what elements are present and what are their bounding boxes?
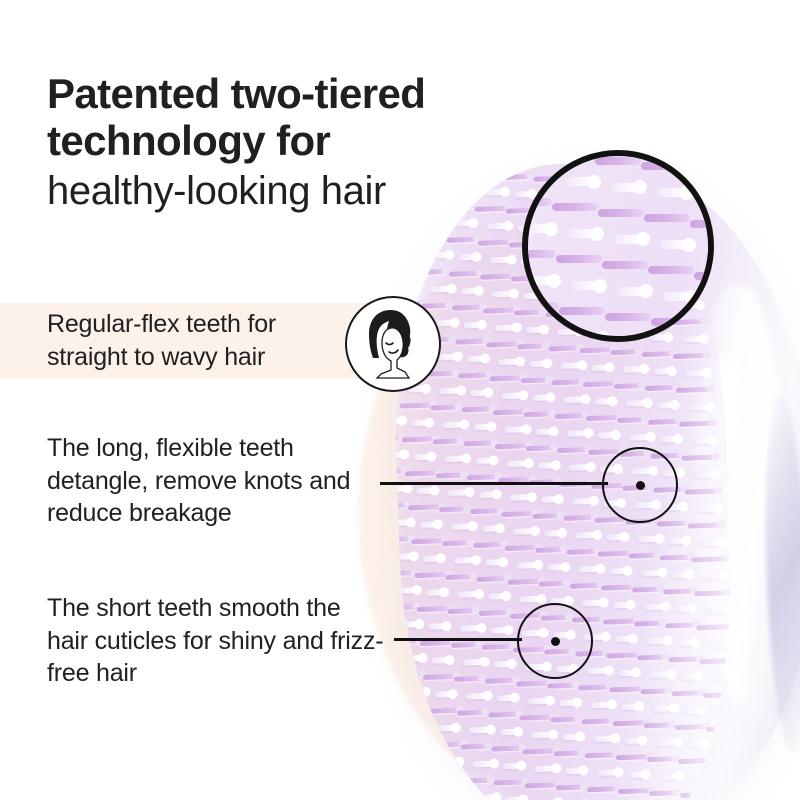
short-tooth	[460, 625, 484, 632]
long-tooth	[595, 157, 641, 165]
long-tooth	[602, 261, 648, 269]
short-tooth	[578, 565, 602, 572]
long-tooth	[584, 752, 617, 758]
short-tooth	[386, 789, 401, 796]
short-tooth	[614, 235, 646, 244]
product-infographic: Patented two-tiered technology for healt…	[0, 0, 800, 800]
long-tooth	[644, 722, 674, 728]
long-tooth	[430, 405, 460, 411]
long-tooth	[638, 654, 668, 660]
long-tooth	[581, 718, 614, 724]
headline-line-3: healthy-looking hair	[47, 168, 567, 215]
short-tooth	[663, 292, 695, 301]
short-tooth	[386, 248, 388, 255]
short-tooth	[597, 432, 617, 439]
bristle-row	[386, 453, 739, 471]
long-tooth	[457, 710, 487, 716]
short-tooth	[386, 687, 392, 694]
short-tooth	[565, 177, 597, 186]
long-tooth	[386, 604, 419, 610]
short-tooth	[594, 398, 614, 405]
short-tooth	[403, 689, 427, 696]
short-tooth	[448, 489, 472, 496]
callout-long-teeth: The long, flexible teeth detangle, remov…	[47, 432, 377, 530]
long-tooth	[569, 582, 602, 588]
short-tooth	[700, 150, 714, 151]
callout-short-teeth: The short teeth smooth the hair cuticles…	[47, 592, 387, 690]
short-tooth	[399, 284, 419, 291]
short-tooth	[606, 534, 626, 541]
long-tooth	[460, 744, 490, 750]
long-tooth	[614, 383, 644, 389]
short-tooth	[400, 655, 424, 662]
short-tooth	[425, 589, 445, 596]
short-tooth	[445, 456, 469, 463]
short-tooth	[618, 669, 638, 676]
long-tooth	[578, 684, 611, 690]
short-tooth	[572, 498, 596, 505]
long-tooth	[552, 379, 585, 385]
short-tooth	[466, 693, 490, 700]
long-tooth	[398, 740, 431, 746]
short-tooth	[469, 727, 493, 734]
short-tooth	[627, 771, 647, 778]
short-tooth	[427, 252, 451, 259]
short-tooth	[571, 281, 603, 290]
long-tooth	[690, 220, 714, 228]
target-dot	[636, 481, 645, 490]
short-tooth	[442, 422, 466, 429]
short-tooth	[463, 659, 487, 666]
long-tooth	[454, 676, 484, 682]
long-tooth	[605, 313, 651, 321]
short-tooth	[437, 725, 457, 732]
short-tooth	[412, 791, 436, 798]
long-tooth	[395, 706, 428, 712]
short-tooth	[457, 591, 481, 598]
long-tooth	[448, 608, 478, 614]
long-tooth	[418, 269, 448, 275]
long-tooth	[559, 307, 605, 315]
short-tooth	[590, 701, 614, 708]
short-tooth	[566, 430, 590, 437]
short-tooth	[454, 557, 478, 564]
short-tooth	[420, 522, 440, 529]
long-tooth	[392, 672, 425, 678]
short-tooth	[431, 657, 451, 664]
short-tooth	[611, 183, 643, 192]
target-circle-short-teeth	[517, 603, 593, 679]
short-tooth	[443, 793, 463, 800]
short-tooth	[439, 388, 463, 395]
long-tooth	[386, 469, 407, 475]
short-tooth	[657, 188, 689, 197]
long-tooth	[436, 473, 466, 479]
long-tooth	[587, 786, 620, 792]
short-tooth	[472, 761, 496, 768]
bristle-row	[386, 758, 739, 776]
long-tooth	[632, 587, 662, 593]
short-tooth	[386, 755, 398, 762]
long-tooth	[563, 515, 596, 521]
short-tooth	[560, 362, 584, 369]
callout-regular-flex: Regular-flex teeth for straight to wavy …	[47, 308, 337, 373]
short-tooth	[474, 795, 498, 800]
short-tooth	[451, 523, 475, 530]
short-tooth	[430, 286, 454, 293]
headline-line-1: Patented two-tiered	[47, 70, 567, 117]
short-tooth	[596, 769, 620, 776]
woman-wavy-hair-icon	[345, 296, 441, 392]
short-tooth	[609, 568, 629, 575]
long-tooth	[651, 318, 697, 326]
long-tooth	[549, 345, 582, 351]
short-tooth	[386, 452, 406, 459]
short-tooth	[624, 737, 644, 744]
short-tooth	[386, 418, 403, 425]
short-tooth	[612, 601, 632, 608]
long-tooth	[556, 255, 602, 263]
short-tooth	[528, 328, 560, 337]
magnified-bristle-detail	[522, 150, 714, 342]
long-tooth	[648, 266, 694, 274]
long-tooth	[386, 704, 394, 710]
long-tooth	[617, 417, 647, 423]
long-tooth	[451, 642, 481, 648]
long-tooth	[650, 790, 680, 796]
long-tooth	[566, 548, 599, 554]
short-tooth	[424, 218, 448, 225]
long-tooth	[635, 620, 665, 626]
short-tooth	[409, 757, 433, 764]
long-tooth	[439, 507, 469, 513]
leader-line-short-teeth	[394, 638, 522, 641]
target-dot	[551, 637, 560, 646]
long-tooth	[463, 778, 493, 784]
short-tooth	[393, 216, 413, 223]
long-tooth	[445, 574, 475, 580]
short-tooth	[391, 553, 415, 560]
long-tooth	[386, 536, 413, 542]
short-tooth	[706, 246, 714, 255]
short-tooth	[417, 488, 437, 495]
short-tooth	[440, 759, 460, 766]
short-tooth	[394, 587, 418, 594]
headline: Patented two-tiered technology for healt…	[47, 70, 567, 215]
short-tooth	[522, 224, 554, 233]
long-tooth	[386, 570, 416, 576]
long-tooth	[611, 349, 641, 355]
long-tooth	[401, 774, 434, 780]
short-tooth	[397, 621, 421, 628]
long-tooth	[552, 203, 598, 211]
target-circle-long-teeth	[602, 447, 678, 523]
short-tooth	[388, 519, 412, 526]
short-tooth	[575, 531, 599, 538]
long-tooth	[386, 772, 400, 778]
long-tooth	[647, 756, 677, 762]
short-tooth	[593, 735, 617, 742]
short-tooth	[406, 723, 430, 730]
short-tooth	[386, 485, 409, 492]
short-tooth	[569, 464, 593, 471]
long-tooth	[386, 738, 397, 744]
short-tooth	[422, 555, 442, 562]
long-tooth	[557, 447, 590, 453]
short-tooth	[591, 364, 611, 371]
short-tooth	[617, 287, 649, 296]
long-tooth	[415, 235, 445, 241]
long-tooth	[641, 162, 687, 170]
short-tooth	[411, 420, 431, 427]
headline-line-2: technology for	[47, 117, 567, 164]
leader-line-long-teeth	[380, 482, 608, 485]
short-tooth	[386, 721, 395, 728]
short-tooth	[568, 229, 600, 238]
long-tooth	[598, 209, 644, 217]
short-tooth	[434, 691, 454, 698]
short-tooth	[386, 282, 391, 289]
long-tooth	[644, 214, 690, 222]
long-tooth	[629, 553, 659, 559]
bristle-row	[386, 419, 739, 437]
long-tooth	[442, 540, 472, 546]
short-tooth	[563, 396, 587, 403]
long-tooth	[555, 413, 588, 419]
short-tooth	[615, 635, 635, 642]
short-tooth	[581, 599, 605, 606]
short-tooth	[660, 240, 692, 249]
short-tooth	[428, 623, 448, 630]
long-tooth	[641, 688, 671, 694]
long-tooth	[433, 439, 463, 445]
short-tooth	[414, 454, 434, 461]
long-tooth	[386, 502, 410, 508]
short-tooth	[587, 667, 611, 674]
short-tooth	[396, 250, 416, 257]
short-tooth	[621, 703, 641, 710]
